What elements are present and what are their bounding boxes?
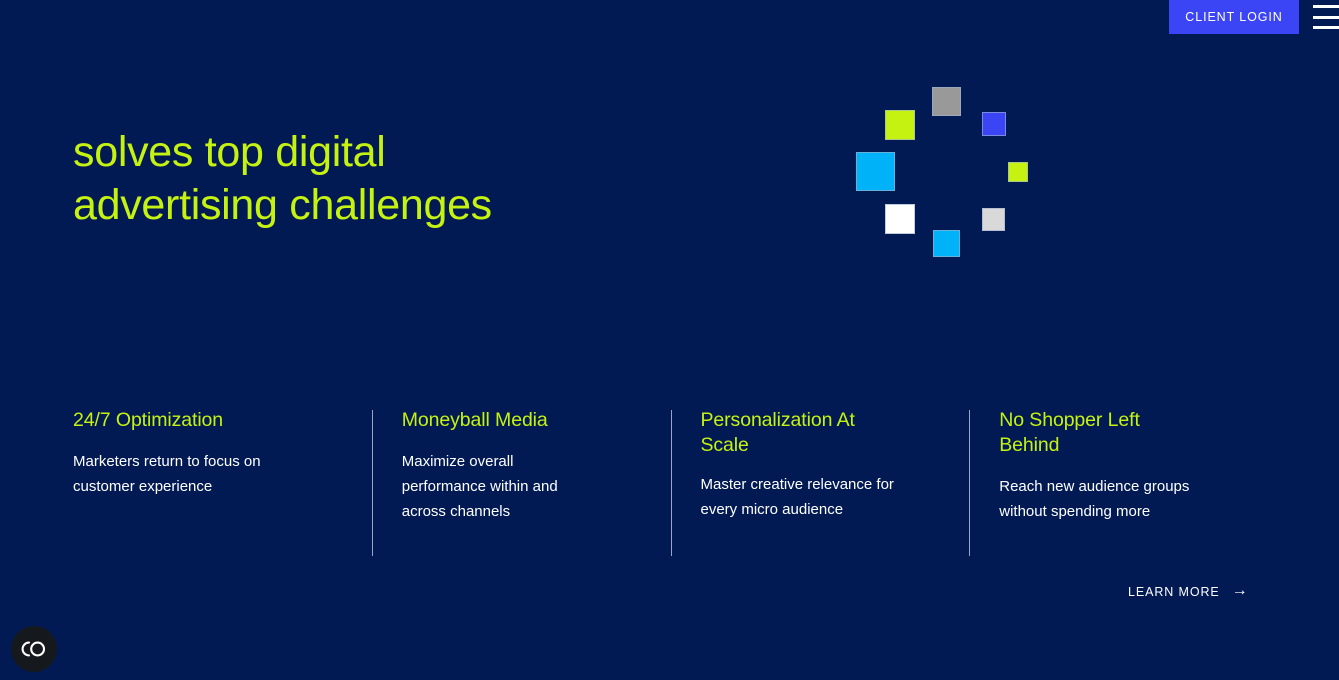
hero-headline-line-2: advertising challenges [73, 179, 693, 232]
square-cyan-large [856, 152, 895, 191]
cookie-toggle-icon [20, 641, 48, 657]
hero-headline: solves top digital advertising challenge… [73, 126, 693, 232]
feature-card-title: No Shopper Left Behind [999, 408, 1198, 458]
feature-card: Personalization At Scale Master creative… [671, 408, 970, 558]
hamburger-bar [1313, 26, 1339, 29]
feature-card-body: Maximize overall performance within and … [402, 449, 601, 524]
square-lime-large [885, 110, 915, 140]
feature-card-body: Master creative relevance for every micr… [701, 472, 900, 522]
hamburger-menu-icon[interactable] [1313, 5, 1339, 29]
learn-more-label: LEARN MORE [1128, 585, 1220, 599]
feature-card: No Shopper Left Behind Reach new audienc… [969, 408, 1268, 558]
feature-card-title: Moneyball Media [402, 408, 601, 433]
top-bar: CLIENT LOGIN [0, 0, 1339, 40]
arrow-right-icon: → [1232, 583, 1249, 599]
feature-card-body: Reach new audience groups without spendi… [999, 474, 1198, 524]
square-blue [982, 112, 1006, 136]
learn-more-link[interactable]: LEARN MORE → [1128, 584, 1249, 600]
square-cyan-small [933, 230, 960, 257]
hamburger-bar [1313, 5, 1339, 8]
feature-card: Moneyball Media Maximize overall perform… [372, 408, 671, 558]
feature-cards-row: 24/7 Optimization Marketers return to fo… [73, 408, 1268, 558]
feature-card-title: 24/7 Optimization [73, 408, 302, 433]
feature-card-body: Marketers return to focus on customer ex… [73, 449, 302, 499]
square-lightgray [982, 208, 1005, 231]
cookie-consent-toggle[interactable] [11, 626, 57, 672]
feature-card: 24/7 Optimization Marketers return to fo… [73, 408, 372, 558]
square-gray [932, 87, 961, 116]
square-white [885, 204, 915, 234]
hero-headline-line-1: solves top digital [73, 126, 693, 179]
square-lime-small [1008, 162, 1028, 182]
hamburger-bar [1313, 16, 1339, 19]
client-login-button[interactable]: CLIENT LOGIN [1169, 0, 1299, 34]
feature-card-title: Personalization At Scale [701, 408, 900, 458]
